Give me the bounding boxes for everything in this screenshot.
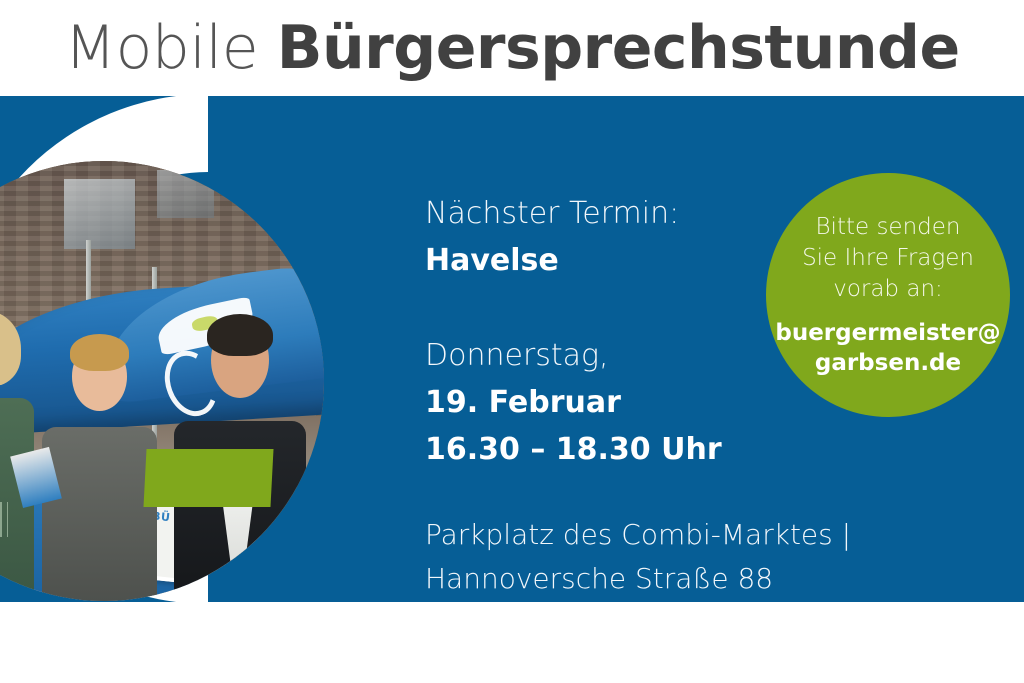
callout-line-2: Sie Ihre Fragen bbox=[802, 243, 974, 274]
event-photo: BÜ bbox=[0, 161, 324, 601]
photo-shirt-print bbox=[0, 502, 8, 537]
photo-circle: BÜ bbox=[0, 161, 324, 602]
event-time: 16.30 – 18.30 Uhr bbox=[425, 426, 845, 473]
photo-person-hair bbox=[0, 311, 21, 387]
header-bar: Mobile Bürgersprechstunde bbox=[0, 0, 1024, 96]
photo-person-body bbox=[42, 427, 156, 601]
email-line-1[interactable]: buergermeister@ bbox=[775, 318, 1000, 348]
photo-window-secondary bbox=[157, 170, 214, 218]
photo-person-young-man bbox=[42, 337, 156, 601]
page-title-light: Mobile bbox=[64, 13, 258, 83]
next-date-label: Nächster Termin: bbox=[425, 190, 845, 237]
address-line-2: Hannoversche Straße 88 bbox=[425, 557, 845, 601]
callout-line-3: vorab an: bbox=[833, 274, 943, 305]
green-accent-block bbox=[143, 449, 273, 507]
page-title-bold: Bürgersprechstunde bbox=[277, 13, 960, 83]
email-line-2[interactable]: garbsen.de bbox=[775, 348, 1000, 378]
callout-email[interactable]: buergermeister@ garbsen.de bbox=[775, 318, 1000, 378]
spacer bbox=[425, 473, 845, 513]
photo-person-hair bbox=[70, 334, 129, 371]
main-panel: BÜ bbox=[0, 96, 1024, 602]
event-date: 19. Februar bbox=[425, 379, 845, 426]
address-line-1: Parkplatz des Combi-Marktes | bbox=[425, 513, 845, 557]
footer-bar: www.garbsen.de Stadt Garbsen Zu Hause an… bbox=[0, 602, 1024, 683]
questions-callout-circle: Bitte senden Sie Ihre Fragen vorab an: b… bbox=[766, 173, 1010, 417]
photo-window bbox=[64, 179, 134, 249]
event-address: Parkplatz des Combi-Marktes | Hannoversc… bbox=[425, 513, 845, 601]
page-title: Mobile Bürgersprechstunde bbox=[64, 18, 959, 78]
callout-line-1: Bitte senden bbox=[816, 212, 961, 243]
poster: Mobile Bürgersprechstunde bbox=[0, 0, 1024, 683]
photo-person-hair bbox=[207, 314, 273, 356]
